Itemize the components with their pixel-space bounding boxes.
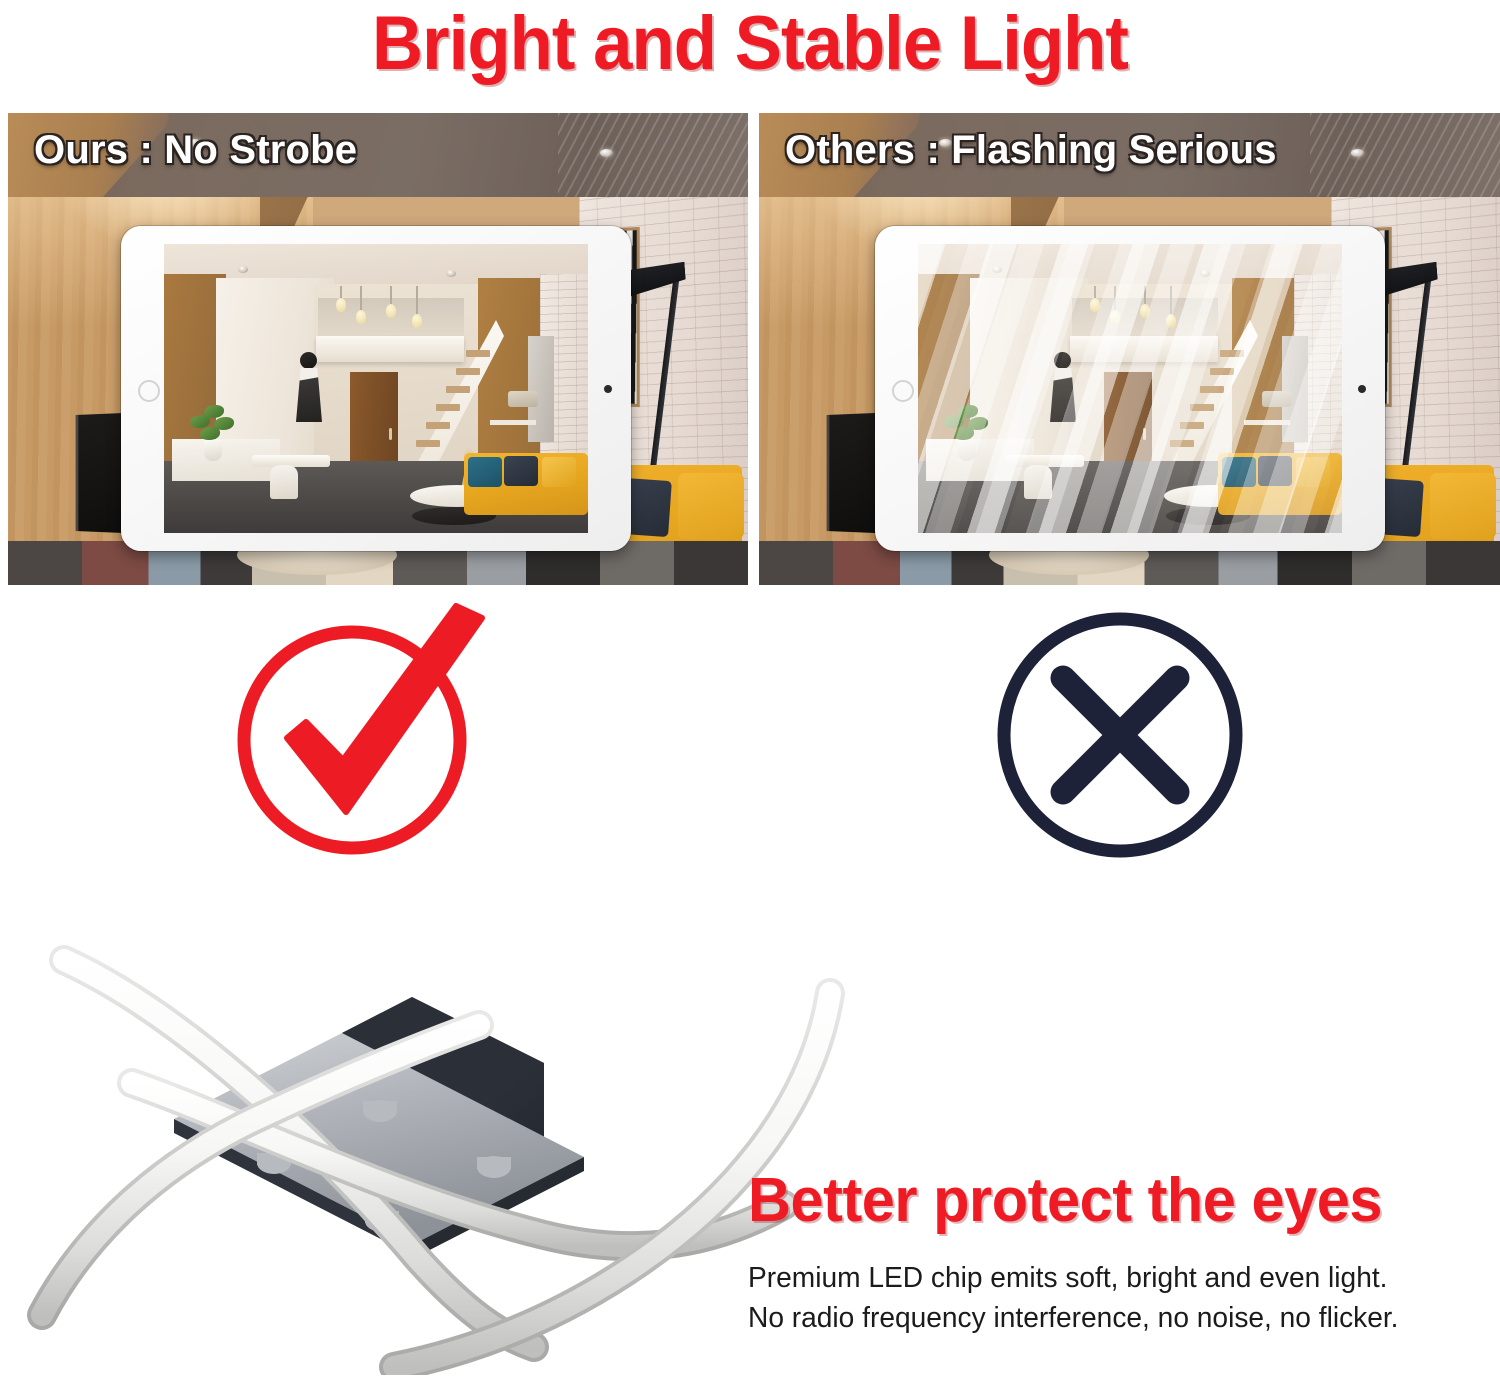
tablet-home-button-icon [892,380,914,402]
comparison-panel-others: Others : Flashing Serious [759,113,1500,585]
pendant-light-icon [1144,286,1146,308]
tablet-home-button-icon [138,380,160,402]
stair-step [416,440,440,447]
verdict-row [0,600,1500,870]
inner-chair [1024,465,1052,499]
inner-fridge [1282,336,1308,442]
inner-shelf-object [1262,391,1292,407]
tablet-device-others [875,226,1385,551]
stair-step [436,404,460,411]
ceiling-spotlight-icon [1351,149,1364,157]
feature-line-1: Premium LED chip emits soft, bright and … [748,1258,1477,1298]
inner-pillow-teal [1222,457,1256,487]
inner-pillow-navy [504,456,538,486]
x-circle-icon [985,600,1255,870]
pendant-light-icon [1114,286,1116,314]
inner-spotlight-icon [1200,270,1210,277]
feature-description: Premium LED chip emits soft, bright and … [748,1258,1500,1338]
inner-shelf-object [508,391,538,407]
inner-person [1050,352,1076,422]
comparison-panel-ours: Ours : No Strobe [8,113,748,585]
pendant-light-icon [340,286,342,302]
inner-shelf [1244,420,1290,425]
inner-yellow-sofa [464,453,588,515]
pendant-light-icon [390,286,392,308]
inner-spotlight-icon [992,266,1002,273]
feature-copy: Better protect the eyes Premium LED chip… [748,1166,1500,1338]
stair-step [1200,386,1224,393]
page-title: Bright and Stable Light [53,2,1448,86]
tablet-screen-others [918,244,1342,533]
tablet-camera-icon [1358,385,1366,393]
stair-step [446,386,470,393]
sofa-arm [678,473,744,539]
stair-step [1180,422,1204,429]
pendant-light-icon [360,286,362,314]
tablet-device-ours [121,226,631,551]
check-circle-icon [224,600,494,870]
inner-pillow-yellow [542,457,576,487]
stair-step [1220,350,1244,357]
comparison-panels: Ours : No Strobe [0,113,1500,585]
person-head [300,352,317,369]
inner-pillow-navy [1258,456,1292,486]
room-scene-ours: Ours : No Strobe [8,113,748,585]
inner-person [296,352,322,422]
pendant-light-icon [1094,286,1096,302]
stair-step [466,350,490,357]
feature-title: Better protect the eyes [748,1166,1470,1236]
inner-spotlight-icon [446,270,456,277]
panel-caption-ours: Ours : No Strobe [34,127,357,173]
stair-step [1190,404,1214,411]
panel-caption-others: Others : Flashing Serious [785,127,1277,173]
tablet-camera-icon [604,385,612,393]
inner-shelf [490,420,536,425]
inner-spotlight-icon [238,266,248,273]
inner-plant [190,405,236,447]
person-head [1054,352,1071,369]
person-body [296,368,322,422]
stair-step [426,422,450,429]
sofa-arm [1430,473,1496,539]
inner-chair [270,465,298,499]
room-scene-others: Others : Flashing Serious [759,113,1500,585]
feature-line-2: No radio frequency interference, no nois… [748,1298,1477,1338]
inner-yellow-sofa [1218,453,1342,515]
inner-pillow-teal [468,457,502,487]
inner-fridge [528,336,554,442]
stair-step [456,368,480,375]
stair-step [1170,440,1194,447]
person-body [1050,368,1076,422]
inner-pillow-yellow [1296,457,1330,487]
ceiling-spotlight-icon [600,149,613,157]
inner-plant [944,405,990,447]
tablet-screen-ours [164,244,588,533]
stair-step [1210,368,1234,375]
